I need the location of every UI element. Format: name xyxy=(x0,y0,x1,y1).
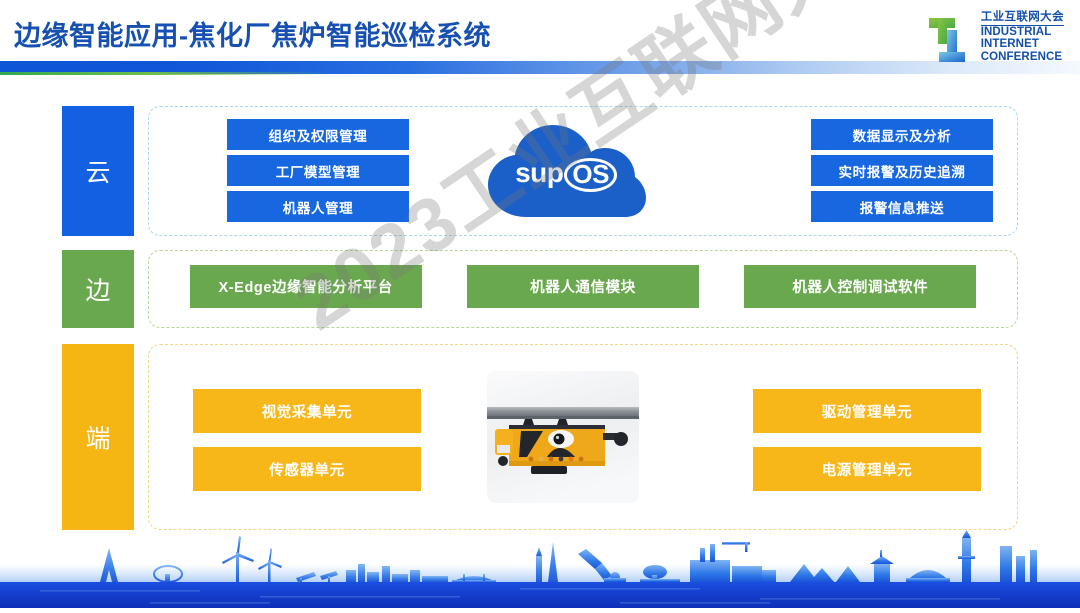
end-right-item-group: 驱动管理单元 电源管理单元 xyxy=(753,389,981,491)
logo-en-line-1: INDUSTRIAL xyxy=(981,27,1064,39)
layer-panel-cloud: 组织及权限管理 工厂模型管理 机器人管理 supOS 数据显示及分析 实时报警及… xyxy=(148,106,1018,236)
cloud-item-alarm-push[interactable]: 报警信息推送 xyxy=(811,191,993,222)
edge-item-group: X-Edge边缘智能分析平台 机器人通信模块 机器人控制调试软件 xyxy=(149,265,1017,308)
cloud-item-data-display-analysis[interactable]: 数据显示及分析 xyxy=(811,119,993,150)
conference-logo-mark-icon xyxy=(927,14,974,62)
layer-tab-cloud-label: 云 xyxy=(85,153,110,189)
cloud-right-item-group: 数据显示及分析 实时报警及历史追溯 报警信息推送 xyxy=(811,119,993,222)
layer-tab-end-label: 端 xyxy=(85,419,110,455)
layer-tab-cloud: 云 xyxy=(62,106,134,236)
supos-cloud-logo: supOS xyxy=(482,121,650,221)
end-item-power-management-unit[interactable]: 电源管理单元 xyxy=(753,447,981,491)
conference-logo-text: 工业互联网大会 INDUSTRIAL INTERNET CONFERENCE xyxy=(981,12,1064,64)
supos-text-prefix: sup xyxy=(515,157,563,188)
edge-item-xedge-platform[interactable]: X-Edge边缘智能分析平台 xyxy=(190,265,422,308)
footer-skyline-decoration xyxy=(0,530,1080,608)
logo-chinese-name: 工业互联网大会 xyxy=(981,12,1064,26)
architecture-diagram: 云 组织及权限管理 工厂模型管理 机器人管理 supOS 数据显示及分析 实时报… xyxy=(0,78,1080,538)
end-item-sensor-unit[interactable]: 传感器单元 xyxy=(193,447,421,491)
supos-wordmark: supOS xyxy=(482,157,650,192)
layer-tab-end: 端 xyxy=(62,344,134,530)
layer-panel-edge: X-Edge边缘智能分析平台 机器人通信模块 机器人控制调试软件 xyxy=(148,250,1018,328)
layer-panel-end: 视觉采集单元 传感器单元 xyxy=(148,344,1018,530)
cloud-left-item-group: 组织及权限管理 工厂模型管理 机器人管理 xyxy=(227,119,409,222)
cloud-item-robot-management[interactable]: 机器人管理 xyxy=(227,191,409,222)
end-item-vision-capture-unit[interactable]: 视觉采集单元 xyxy=(193,389,421,433)
rail-inspection-robot-photo xyxy=(487,371,639,503)
end-left-item-group: 视觉采集单元 传感器单元 xyxy=(193,389,421,491)
page-title: 边缘智能应用-焦化厂焦炉智能巡检系统 xyxy=(14,14,491,53)
edge-item-robot-communication-module[interactable]: 机器人通信模块 xyxy=(467,265,699,308)
cloud-item-factory-model[interactable]: 工厂模型管理 xyxy=(227,155,409,186)
layer-tab-edge: 边 xyxy=(62,250,134,328)
logo-en-line-2: INTERNET xyxy=(981,39,1064,51)
conference-logo: 工业互联网大会 INDUSTRIAL INTERNET CONFERENCE xyxy=(927,12,1064,64)
edge-item-robot-control-debug-software[interactable]: 机器人控制调试软件 xyxy=(744,265,976,308)
layer-row-end: 端 视觉采集单元 传感器单元 xyxy=(62,344,1018,530)
supos-text-badge: OS xyxy=(564,158,617,192)
layer-tab-edge-label: 边 xyxy=(85,271,110,307)
logo-en-line-3: CONFERENCE xyxy=(981,52,1064,64)
layer-row-cloud: 云 组织及权限管理 工厂模型管理 机器人管理 supOS 数据显示及分析 实时报… xyxy=(62,106,1018,236)
end-item-drive-management-unit[interactable]: 驱动管理单元 xyxy=(753,389,981,433)
cloud-item-realtime-alarm-history[interactable]: 实时报警及历史追溯 xyxy=(811,155,993,186)
layer-row-edge: 边 X-Edge边缘智能分析平台 机器人通信模块 机器人控制调试软件 xyxy=(62,250,1018,328)
title-divider-accent xyxy=(0,72,330,75)
cloud-item-org-permission[interactable]: 组织及权限管理 xyxy=(227,119,409,150)
